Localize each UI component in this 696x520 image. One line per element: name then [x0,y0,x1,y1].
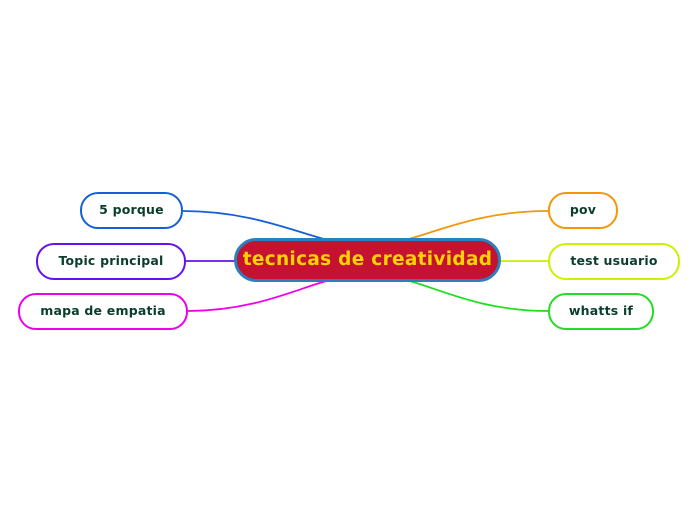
branch-node-test-usuario[interactable]: test usuario [548,243,680,280]
branch-node-label-mapa-de-empatia: mapa de empatia [40,305,166,318]
link-mapa-de-empatia [188,280,330,311]
branch-node-whatts-if[interactable]: whatts if [548,293,654,330]
link-cinco-porque [183,211,328,240]
branch-node-label-test-usuario: test usuario [570,255,657,268]
branch-node-label-cinco-porque: 5 porque [99,204,164,217]
link-pov [405,211,548,240]
central-node-label: tecnicas de creatividad [243,251,493,270]
branch-node-label-whatts-if: whatts if [569,305,633,318]
branch-node-cinco-porque[interactable]: 5 porque [80,192,183,229]
branch-node-topic-principal[interactable]: Topic principal [36,243,186,280]
branch-node-mapa-de-empatia[interactable]: mapa de empatia [18,293,188,330]
branch-node-label-topic-principal: Topic principal [58,255,163,268]
central-node[interactable]: tecnicas de creatividad [234,238,501,282]
branch-node-pov[interactable]: pov [548,192,618,229]
link-whatts-if [406,280,548,311]
branch-node-label-pov: pov [570,204,596,217]
mindmap-canvas: 5 porqueTopic principalmapa de empatiapo… [0,0,696,520]
